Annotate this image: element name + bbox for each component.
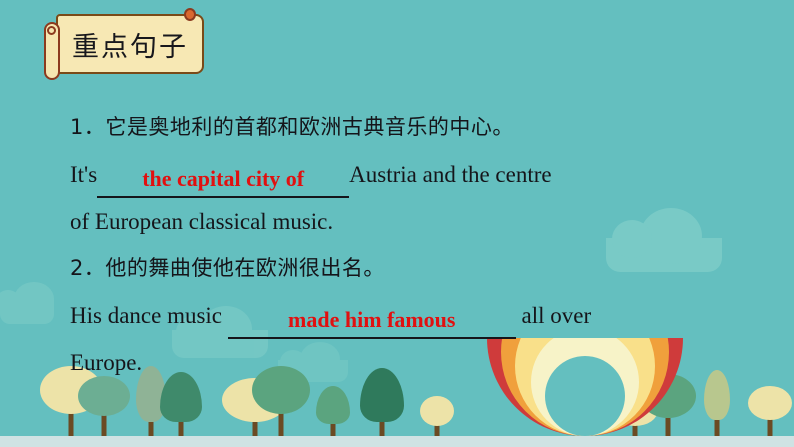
sentence-2-english-line-1: His dance music made him famous all over [70,292,770,339]
page-title: 重点句子 [56,14,204,74]
sentence-1-suffix: Austria and the centre [349,162,551,187]
tree-13-icon [748,386,792,436]
tree-9-icon [420,396,454,436]
slide-canvas: 重点句子 1．它是奥地利的首都和欧洲古典音乐的中心。 It'sthe capit… [0,0,794,447]
sentence-1-answer-blank[interactable]: the capital city of [97,162,349,198]
sentence-1-english-line-1: It'sthe capital city ofAustria and the c… [70,151,770,198]
cloud-far-left-icon [0,300,54,324]
sentence-1-chinese: 1．它是奥地利的首都和欧洲古典音乐的中心。 [70,104,770,151]
scroll-knob-left-icon [47,26,56,35]
tree-crown [316,386,350,424]
section-title-scroll: 重点句子 [44,8,208,80]
sentence-2-suffix: all over [522,303,592,328]
tree-crown [748,386,792,420]
ground-strip [0,436,794,447]
sentence-1-english-line-2: of European classical music. [70,198,770,245]
sentence-2-english-line-2: Europe. [70,339,770,386]
sentence-2-chinese: 2．他的舞曲使他在欧洲很出名。 [70,245,770,292]
tree-7-icon [316,386,350,436]
tree-crown [420,396,454,426]
sentence-list: 1．它是奥地利的首都和欧洲古典音乐的中心。 It'sthe capital ci… [70,104,770,386]
sentence-2-prefix: His dance music [70,303,222,328]
sentence-1-prefix: It's [70,162,97,187]
sentence-2-answer-blank[interactable]: made him famous [228,303,516,339]
